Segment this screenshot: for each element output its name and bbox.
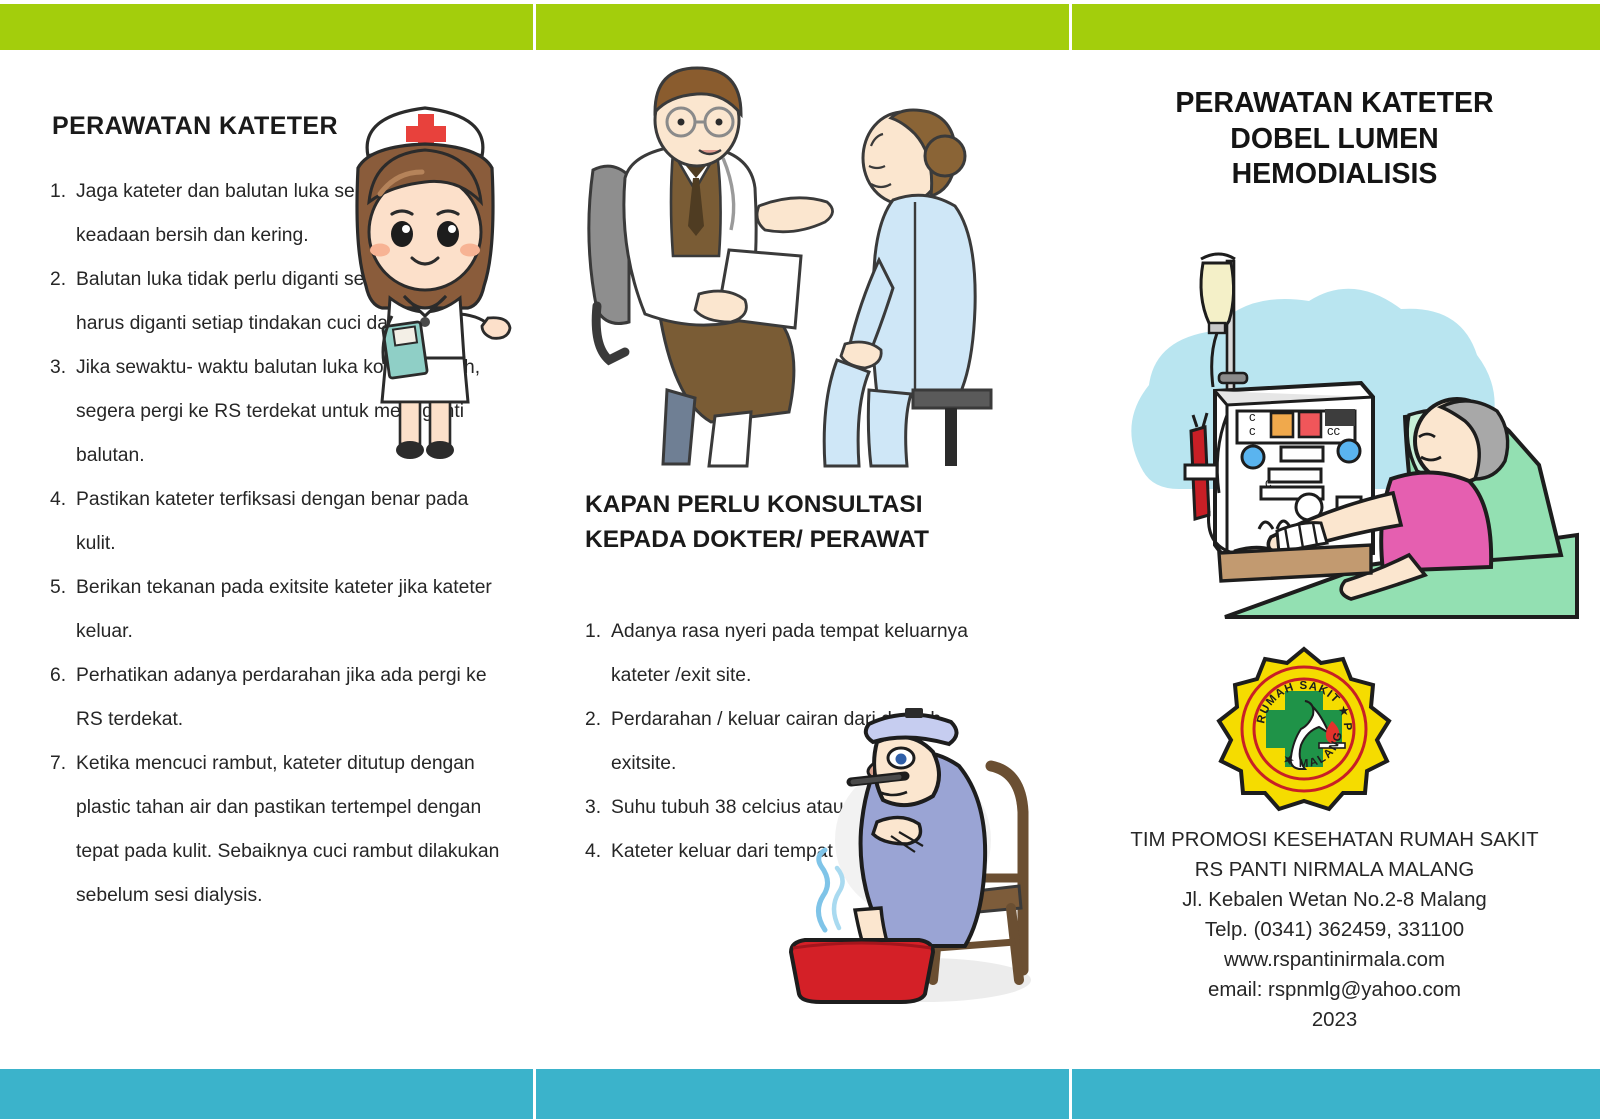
- catheter-care-item-number: 7.: [50, 742, 76, 918]
- catheter-care-item-text: Ketika mencuci rambut, kateter ditutup d…: [76, 742, 500, 918]
- cartoon-nurse-illustration: [330, 90, 520, 480]
- catheter-care-item: 6.Perhatikan adanya perdarahan jika ada …: [50, 654, 500, 742]
- top-color-bar: [0, 4, 1600, 50]
- catheter-care-item-text: Berikan tekanan pada exitsite kateter ji…: [76, 566, 500, 654]
- catheter-care-item: 5.Berikan tekanan pada exitsite kateter …: [50, 566, 500, 654]
- hemodialysis-machine-patient-illustration: c c cc c: [1109, 235, 1579, 635]
- title-line-1: PERAWATAN KATETER: [1079, 86, 1590, 122]
- middle-panel-heading: KAPAN PERLU KONSULTASI KEPADA DOKTER/ PE…: [585, 488, 1015, 558]
- consultation-sign-item-number: 2.: [585, 698, 611, 786]
- catheter-care-item: 4.Pastikan kateter terfiksasi dengan ben…: [50, 478, 500, 566]
- consultation-sign-item-number: 4.: [585, 830, 611, 874]
- brochure-title: PERAWATAN KATETER DOBEL LUMEN HEMODIALIS…: [1079, 86, 1590, 193]
- middle-heading-line-2: KEPADA DOKTER/ PERAWAT: [585, 523, 1015, 558]
- left-panel-heading: PERAWATAN KATETER: [52, 112, 338, 141]
- catheter-care-item-number: 2.: [50, 258, 76, 346]
- svg-text:cc: cc: [1327, 423, 1341, 438]
- title-line-2: DOBEL LUMEN: [1079, 122, 1590, 158]
- consultation-sign-item-number: 3.: [585, 786, 611, 830]
- footer-line: TIM PROMOSI KESEHATAN RUMAH SAKIT: [1075, 826, 1594, 856]
- rs-panti-nirmala-logo: RUMAH SAKIT ★ PANTI NIRMALA ★ MALANG ★: [1209, 645, 1399, 820]
- hospital-contact-footer: TIM PROMOSI KESEHATAN RUMAH SAKITRS PANT…: [1075, 826, 1594, 1036]
- panel-right: PERAWATAN KATETER DOBEL LUMEN HEMODIALIS…: [1069, 50, 1600, 1069]
- sick-person-fever-illustration: [773, 680, 1063, 1010]
- middle-heading-line-1: KAPAN PERLU KONSULTASI: [585, 488, 1015, 523]
- footer-line: email: rspnmlg@yahoo.com: [1075, 976, 1594, 1006]
- catheter-care-item-number: 5.: [50, 566, 76, 654]
- footer-line: RS PANTI NIRMALA MALANG: [1075, 856, 1594, 886]
- panel-fold-line-right: [1069, 4, 1072, 50]
- brochure-page: PERAWATAN KATETER 1.Jaga kateter dan bal…: [0, 0, 1600, 1119]
- title-line-3: HEMODIALISIS: [1079, 157, 1590, 193]
- footer-line: Jl. Kebalen Wetan No.2-8 Malang: [1075, 886, 1594, 916]
- panel-fold-line-left-bottom: [533, 1069, 536, 1119]
- consultation-sign-item-number: 1.: [585, 610, 611, 698]
- footer-line: 2023: [1075, 1006, 1594, 1036]
- catheter-care-item-number: 6.: [50, 654, 76, 742]
- svg-text:c: c: [1249, 423, 1256, 438]
- panel-fold-line-left: [533, 4, 536, 50]
- footer-line: www.rspantinirmala.com: [1075, 946, 1594, 976]
- panel-left: PERAWATAN KATETER 1.Jaga kateter dan bal…: [0, 50, 533, 1069]
- footer-line: Telp. (0341) 362459, 331100: [1075, 916, 1594, 946]
- bottom-color-bar: [0, 1069, 1600, 1119]
- svg-text:c: c: [1249, 409, 1256, 424]
- catheter-care-item-text: Perhatikan adanya perdarahan jika ada pe…: [76, 654, 500, 742]
- doctor-patient-consultation-illustration: [563, 60, 1033, 480]
- catheter-care-item: 7.Ketika mencuci rambut, kateter ditutup…: [50, 742, 500, 918]
- panel-middle: KAPAN PERLU KONSULTASI KEPADA DOKTER/ PE…: [533, 50, 1069, 1069]
- svg-text:c: c: [1265, 475, 1272, 490]
- catheter-care-item-number: 1.: [50, 170, 76, 258]
- catheter-care-item-number: 4.: [50, 478, 76, 566]
- catheter-care-item-number: 3.: [50, 346, 76, 478]
- catheter-care-item-text: Pastikan kateter terfiksasi dengan benar…: [76, 478, 500, 566]
- panel-fold-line-right-bottom: [1069, 1069, 1072, 1119]
